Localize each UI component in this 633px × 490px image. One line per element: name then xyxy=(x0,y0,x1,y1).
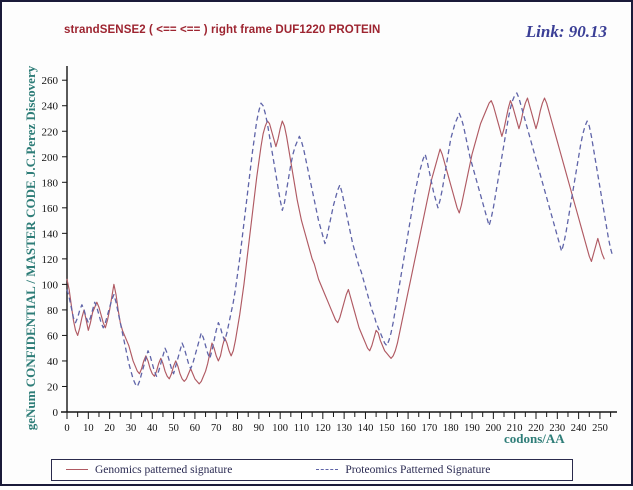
y-tick-label: 0 xyxy=(53,407,59,419)
y-tick-label: 240 xyxy=(42,101,59,113)
x-tick-label: 150 xyxy=(379,423,395,434)
x-tick-label: 50 xyxy=(168,423,179,434)
x-tick-label: 10 xyxy=(83,423,94,434)
series-proteomics-line xyxy=(67,93,613,387)
y-tick-label: 40 xyxy=(47,356,59,368)
x-tick-label: 100 xyxy=(272,423,288,434)
x-tick-label: 90 xyxy=(254,423,265,434)
x-tick-label: 120 xyxy=(315,423,331,434)
x-tick-label: 250 xyxy=(592,423,608,434)
y-tick-label: 220 xyxy=(42,126,59,138)
plot-area: 020406080100120140160180200220240260 010… xyxy=(4,4,633,490)
y-tick-label: 140 xyxy=(42,228,59,240)
y-tick-label: 260 xyxy=(42,75,59,87)
x-tick-label: 240 xyxy=(571,423,587,434)
link-value: Link: 90.13 xyxy=(526,22,607,42)
x-tick-label: 0 xyxy=(64,423,69,434)
x-tick-label: 200 xyxy=(485,423,501,434)
y-axis-label: geNum CONFIDENTIAL / MASTER CODE J.C.Per… xyxy=(23,53,39,443)
chart-window: strandSENSE2 ( <== <== ) right frame DUF… xyxy=(0,0,633,486)
x-tick-label: 160 xyxy=(400,423,416,434)
x-tick-label: 40 xyxy=(147,423,158,434)
x-tick-label: 30 xyxy=(126,423,137,434)
y-tick-label: 100 xyxy=(42,279,59,291)
x-tick-label: 80 xyxy=(232,423,243,434)
chart-title: strandSENSE2 ( <== <== ) right frame DUF… xyxy=(64,24,380,36)
legend-label-proteomics: Proteomics Patterned Signature xyxy=(345,464,490,476)
legend-item-proteomics: Proteomics Patterned Signature xyxy=(316,464,490,476)
y-tick-label: 120 xyxy=(42,254,59,266)
y-tick-label: 60 xyxy=(47,330,59,342)
y-tick-label: 160 xyxy=(42,203,59,215)
x-tick-label: 130 xyxy=(336,423,352,434)
chart-legend: Genomics patterned signature Proteomics … xyxy=(51,459,573,481)
chart-canvas: strandSENSE2 ( <== <== ) right frame DUF… xyxy=(4,4,631,484)
y-tick-label: 80 xyxy=(47,305,59,317)
x-tick-label: 20 xyxy=(104,423,115,434)
y-tick-label: 200 xyxy=(42,152,59,164)
x-tick-label: 180 xyxy=(443,423,459,434)
x-tick-label: 70 xyxy=(211,423,222,434)
chart-svg: 020406080100120140160180200220240260 010… xyxy=(4,4,633,490)
x-tick-label: 190 xyxy=(464,423,480,434)
y-tick-label: 180 xyxy=(42,177,59,189)
x-tick-label: 140 xyxy=(358,423,374,434)
x-tick-label: 110 xyxy=(294,423,309,434)
x-tick-label: 60 xyxy=(190,423,201,434)
x-tick-label: 170 xyxy=(422,423,438,434)
legend-swatch-dashed-icon xyxy=(316,469,338,470)
legend-item-genomics: Genomics patterned signature xyxy=(66,464,232,476)
legend-swatch-solid-icon xyxy=(66,469,88,470)
series-genomics-line xyxy=(67,98,604,384)
x-axis-label: codons/AA xyxy=(504,431,565,447)
y-axis-ticks: 020406080100120140160180200220240260 xyxy=(42,75,68,419)
legend-label-genomics: Genomics patterned signature xyxy=(95,464,232,476)
y-tick-label: 20 xyxy=(47,381,59,393)
